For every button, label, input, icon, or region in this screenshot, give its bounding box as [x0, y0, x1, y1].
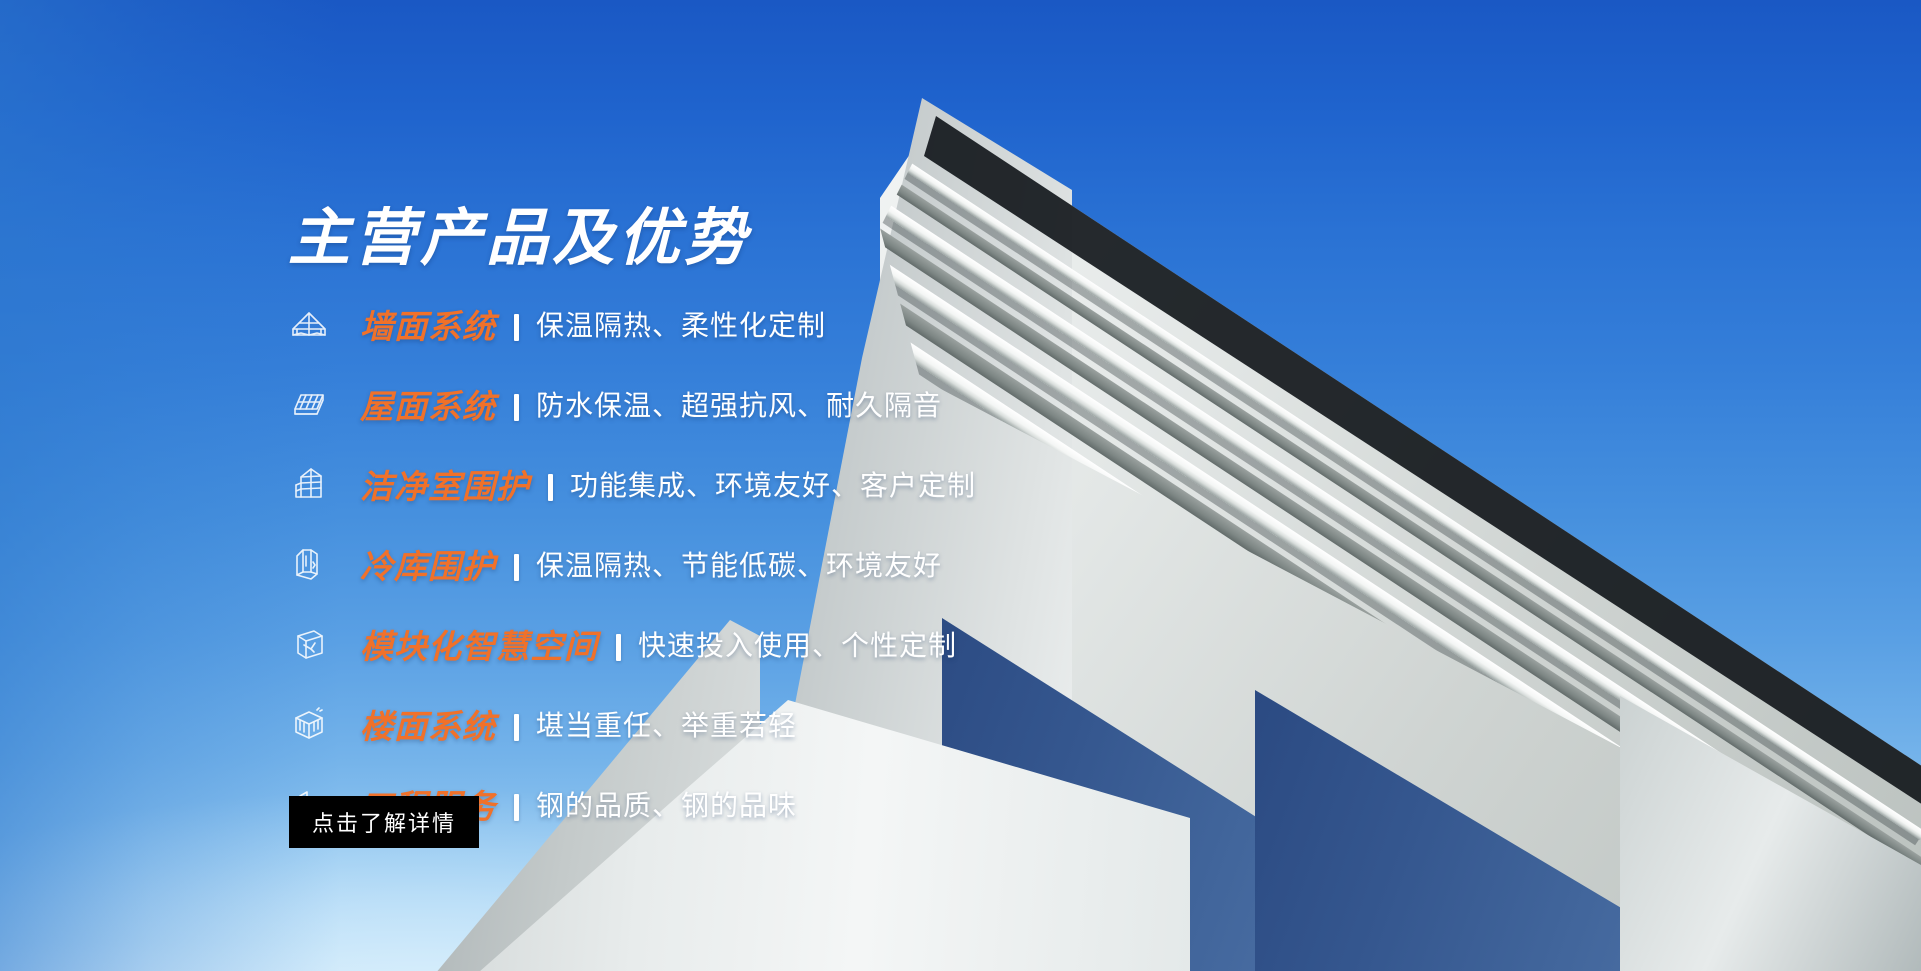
cold-storage-icon	[288, 544, 330, 584]
product-name: 模块化智慧空间	[360, 620, 598, 668]
product-separator	[514, 394, 519, 421]
page-title: 主营产品及优势	[288, 207, 750, 269]
product-name: 冷库围护	[360, 540, 496, 588]
product-row[interactable]: 楼面系统堪当重任、举重若轻	[288, 703, 976, 745]
floor-system-icon	[288, 704, 330, 744]
product-row[interactable]: 冷库围护保温隔热、节能低碳、环境友好	[288, 543, 976, 585]
hero-content: 主营产品及优势 墙面系统保温隔热、柔性化定制屋面系统防水保温、超强抗风、耐久隔音…	[0, 0, 1921, 971]
product-description: 保温隔热、柔性化定制	[536, 304, 826, 344]
roof-system-icon	[288, 384, 330, 424]
product-separator	[514, 554, 519, 581]
product-name: 墙面系统	[360, 300, 496, 348]
modular-space-icon	[288, 624, 330, 664]
product-row[interactable]: 洁净室围护功能集成、环境友好、客户定制	[288, 463, 976, 505]
product-separator	[514, 794, 519, 821]
product-name: 屋面系统	[360, 380, 496, 428]
product-description: 钢的品质、钢的品味	[536, 784, 797, 824]
product-row[interactable]: 模块化智慧空间快速投入使用、个性定制	[288, 623, 976, 665]
product-name: 楼面系统	[360, 700, 496, 748]
product-separator	[514, 314, 519, 341]
cta-learn-more-button[interactable]: 点击了解详情	[289, 796, 479, 848]
hero-banner: 主营产品及优势 墙面系统保温隔热、柔性化定制屋面系统防水保温、超强抗风、耐久隔音…	[0, 0, 1921, 971]
product-name: 洁净室围护	[360, 460, 530, 508]
product-row[interactable]: 屋面系统防水保温、超强抗风、耐久隔音	[288, 383, 976, 425]
product-separator	[548, 474, 553, 501]
product-row[interactable]: 墙面系统保温隔热、柔性化定制	[288, 303, 976, 345]
product-separator	[616, 634, 621, 661]
product-description: 保温隔热、节能低碳、环境友好	[536, 544, 942, 584]
product-separator	[514, 714, 519, 741]
cleanroom-icon	[288, 464, 330, 504]
product-list: 墙面系统保温隔热、柔性化定制屋面系统防水保温、超强抗风、耐久隔音洁净室围护功能集…	[288, 303, 976, 863]
product-description: 快速投入使用、个性定制	[638, 624, 957, 664]
product-description: 功能集成、环境友好、客户定制	[570, 464, 976, 504]
wall-system-icon	[288, 304, 330, 344]
product-description: 堪当重任、举重若轻	[536, 704, 797, 744]
product-description: 防水保温、超强抗风、耐久隔音	[536, 384, 942, 424]
